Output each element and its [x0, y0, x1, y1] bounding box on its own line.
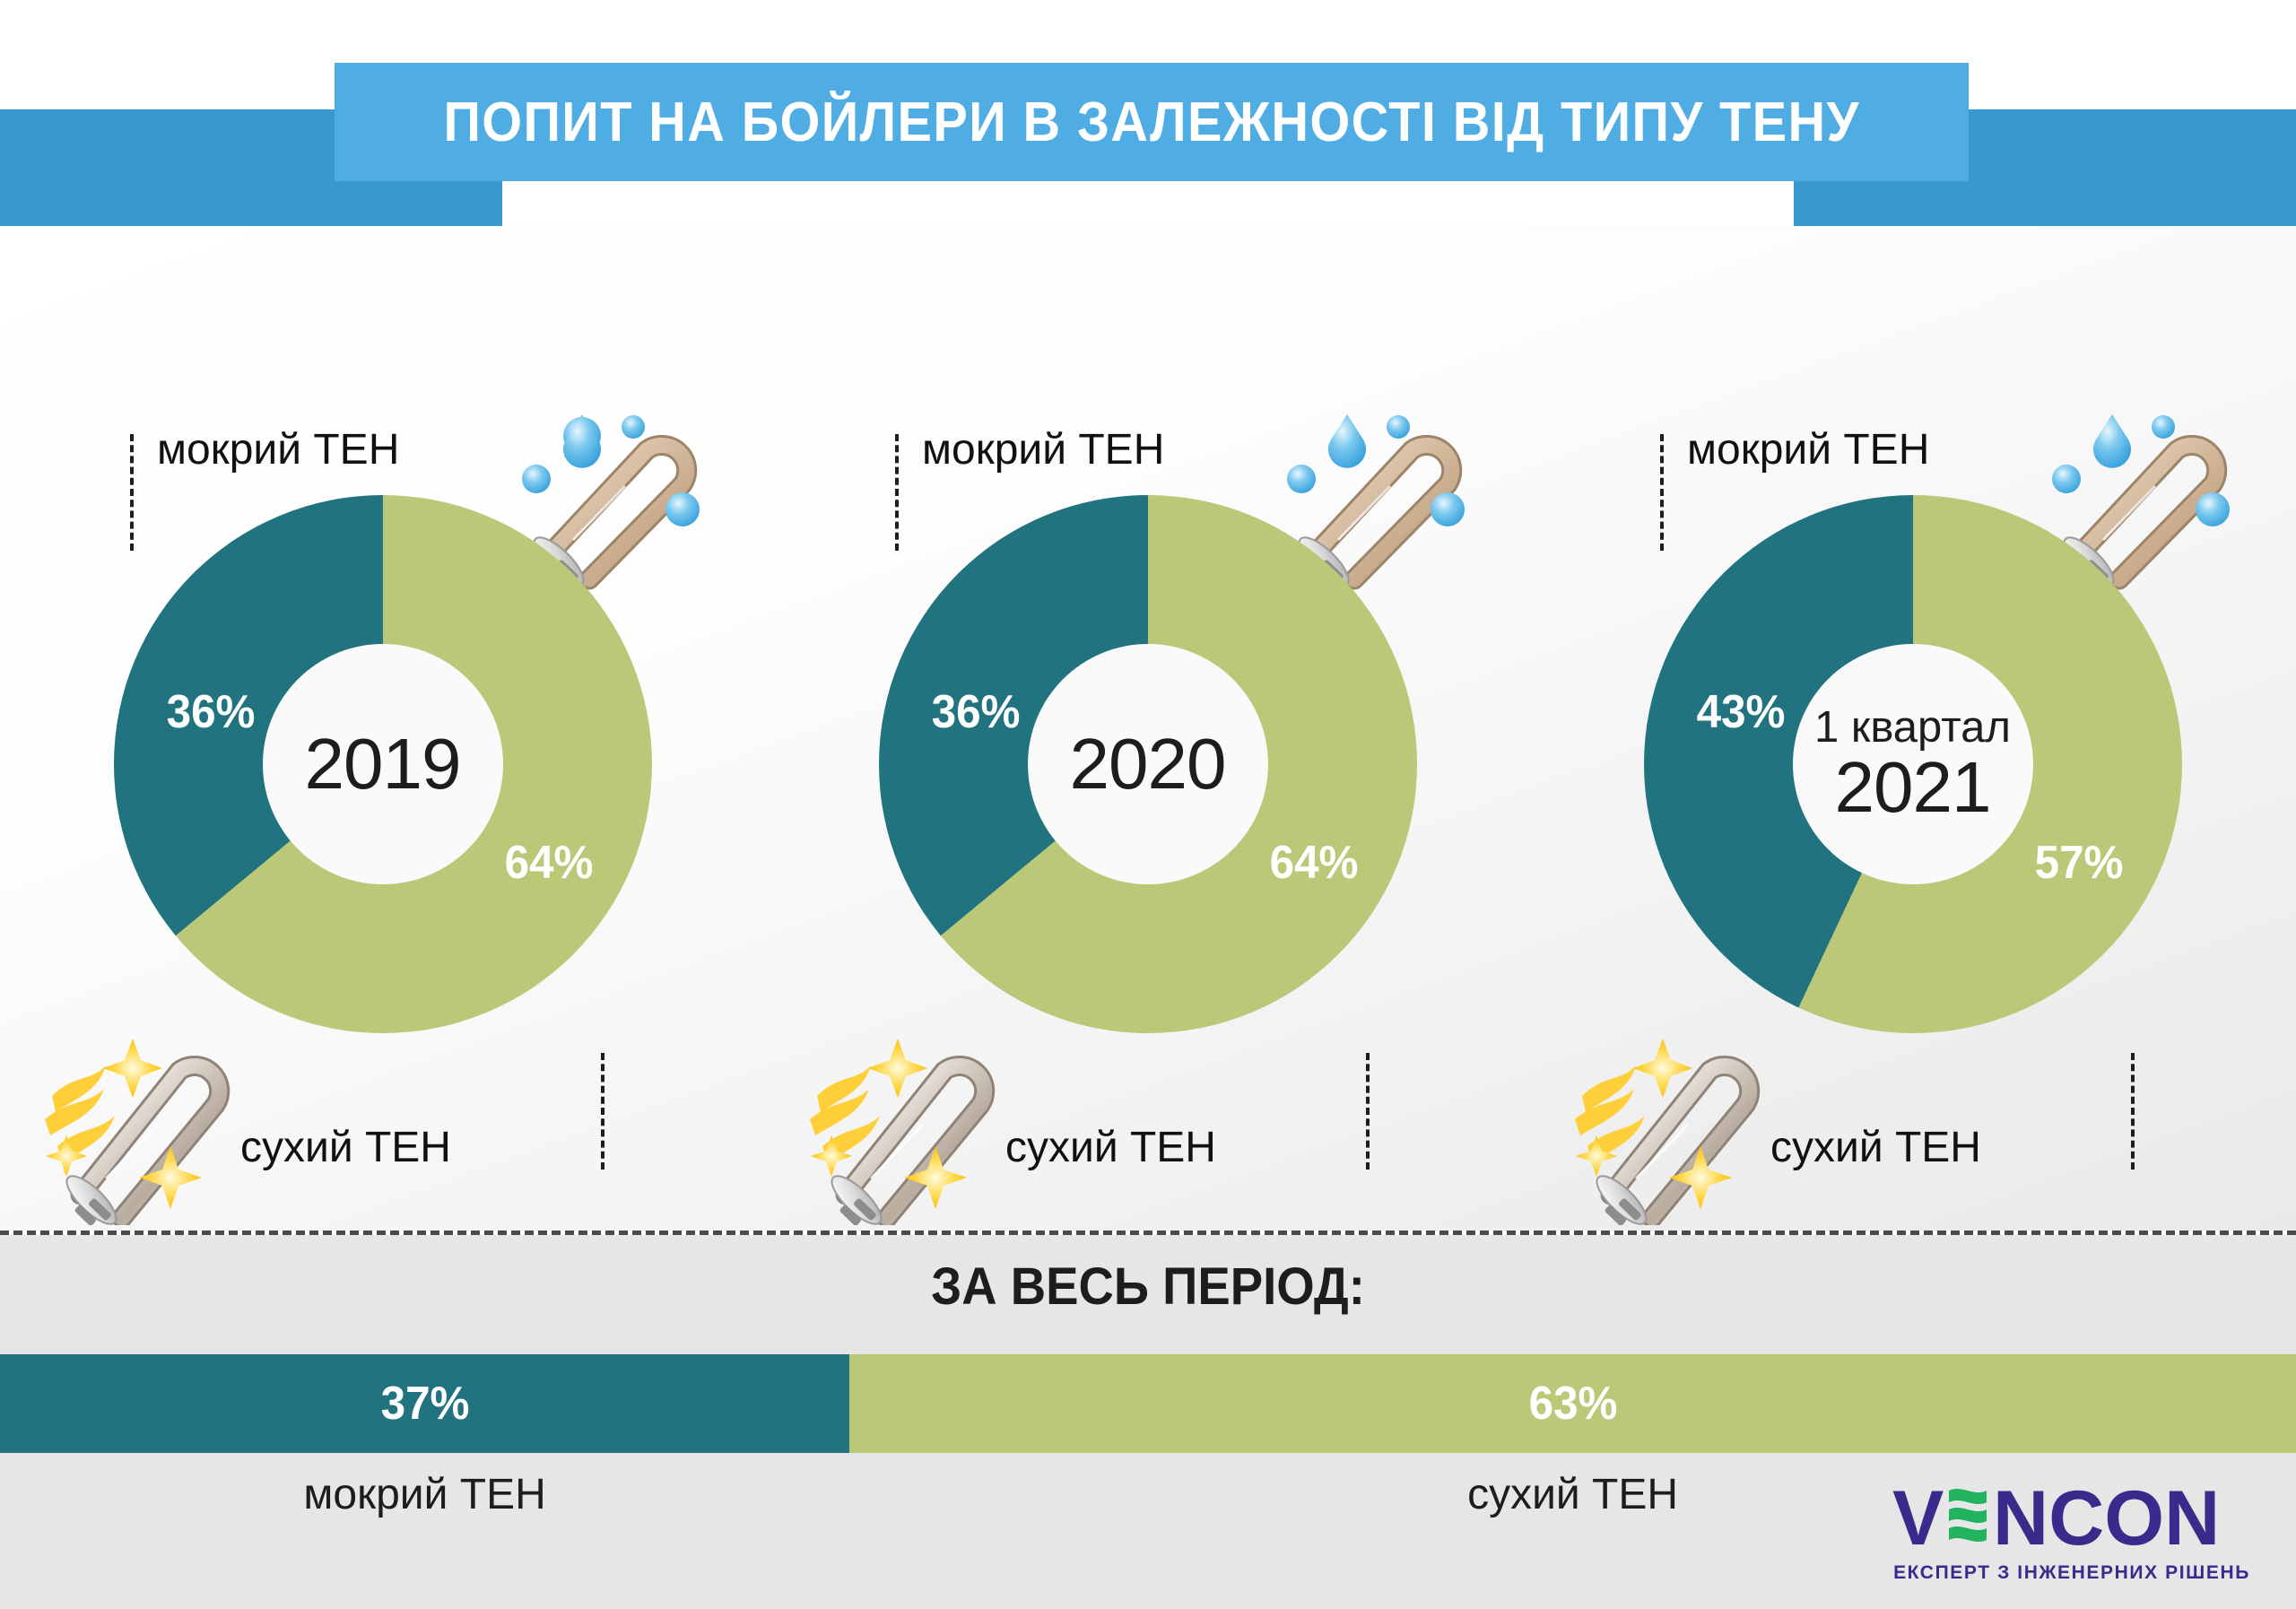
percent-dry: 64% — [1270, 836, 1359, 890]
label-dry-ten: сухий ТЕН — [1005, 1123, 1216, 1172]
dry-heating-element-icon — [1566, 1019, 1772, 1225]
donut-center: 1 квартал 2021 — [1793, 644, 2033, 884]
page-title: ПОПИТ НА БОЙЛЕРИ В ЗАЛЕЖНОСТІ ВІД ТИПУ Т… — [443, 91, 1859, 154]
bar-percent-dry: 63% — [1528, 1377, 1617, 1431]
donut-chart-2020: мокрий ТЕН — [765, 226, 1530, 1231]
donut-center-year: 2019 — [305, 728, 461, 800]
leader-line-dry — [1366, 1053, 1370, 1170]
bar-segment-wet: 37% — [0, 1354, 849, 1453]
donut-2019: 2019 36% 64% — [114, 495, 652, 1033]
leader-line-dry — [2131, 1053, 2135, 1170]
charts-section: мокрий ТЕН — [0, 226, 2296, 1231]
dry-heating-element-icon — [36, 1019, 242, 1225]
label-dry-ten: сухий ТЕН — [240, 1123, 451, 1172]
summary-label-wet: мокрий ТЕН — [0, 1470, 849, 1519]
leader-line-dry — [601, 1053, 604, 1170]
label-dry-ten: сухий ТЕН — [1770, 1123, 1981, 1172]
label-wet-ten: мокрий ТЕН — [922, 425, 1164, 474]
donut-2021q1: 1 квартал 2021 43% 57% — [1644, 495, 2182, 1033]
donut-center: 2019 — [263, 644, 503, 884]
logo-green-wave-e — [1949, 1489, 1987, 1542]
infographic-canvas: ПОПИТ НА БОЙЛЕРИ В ЗАЛЕЖНОСТІ ВІД ТИПУ Т… — [0, 0, 2296, 1609]
donut-2020: 2020 36% 64% — [879, 495, 1417, 1033]
summary-title: ЗА ВЕСЬ ПЕРІОД: — [69, 1257, 2227, 1317]
label-wet-ten: мокрий ТЕН — [157, 425, 399, 474]
percent-wet: 36% — [931, 685, 1020, 739]
logo-letter-v: V — [1892, 1480, 1944, 1557]
donut-chart-2019: мокрий ТЕН — [0, 226, 765, 1231]
donut-center: 2020 — [1028, 644, 1268, 884]
donut-center-year: 2021 — [1835, 752, 1991, 823]
percent-wet: 36% — [166, 685, 255, 739]
header-title-box: ПОПИТ НА БОЙЛЕРИ В ЗАЛЕЖНОСТІ ВІД ТИПУ Т… — [335, 63, 1969, 181]
donut-chart-2021q1: мокрий ТЕН — [1530, 226, 2295, 1231]
bar-percent-wet: 37% — [380, 1377, 469, 1431]
donut-center-sub: 1 квартал — [1814, 706, 2011, 750]
logo-letters-ncon: NCON — [1993, 1480, 2220, 1557]
percent-dry: 57% — [2035, 836, 2124, 890]
donut-center-year: 2020 — [1070, 728, 1226, 800]
bar-segment-dry: 63% — [849, 1354, 2296, 1453]
logo-wordmark: V NCON — [1892, 1480, 2251, 1557]
logo-tagline: ЕКСПЕРТ З ІНЖЕНЕРНИХ РІШЕНЬ — [1892, 1562, 2251, 1584]
percent-wet: 43% — [1696, 685, 1785, 739]
label-wet-ten: мокрий ТЕН — [1687, 425, 1929, 474]
summary-stacked-bar: 37% 63% — [0, 1354, 2296, 1453]
dry-heating-element-icon — [801, 1019, 1007, 1225]
vencon-logo[interactable]: V NCON ЕКСПЕРТ З ІНЖЕНЕРНИХ РІШЕНЬ — [1892, 1480, 2251, 1591]
percent-dry: 64% — [505, 836, 594, 890]
